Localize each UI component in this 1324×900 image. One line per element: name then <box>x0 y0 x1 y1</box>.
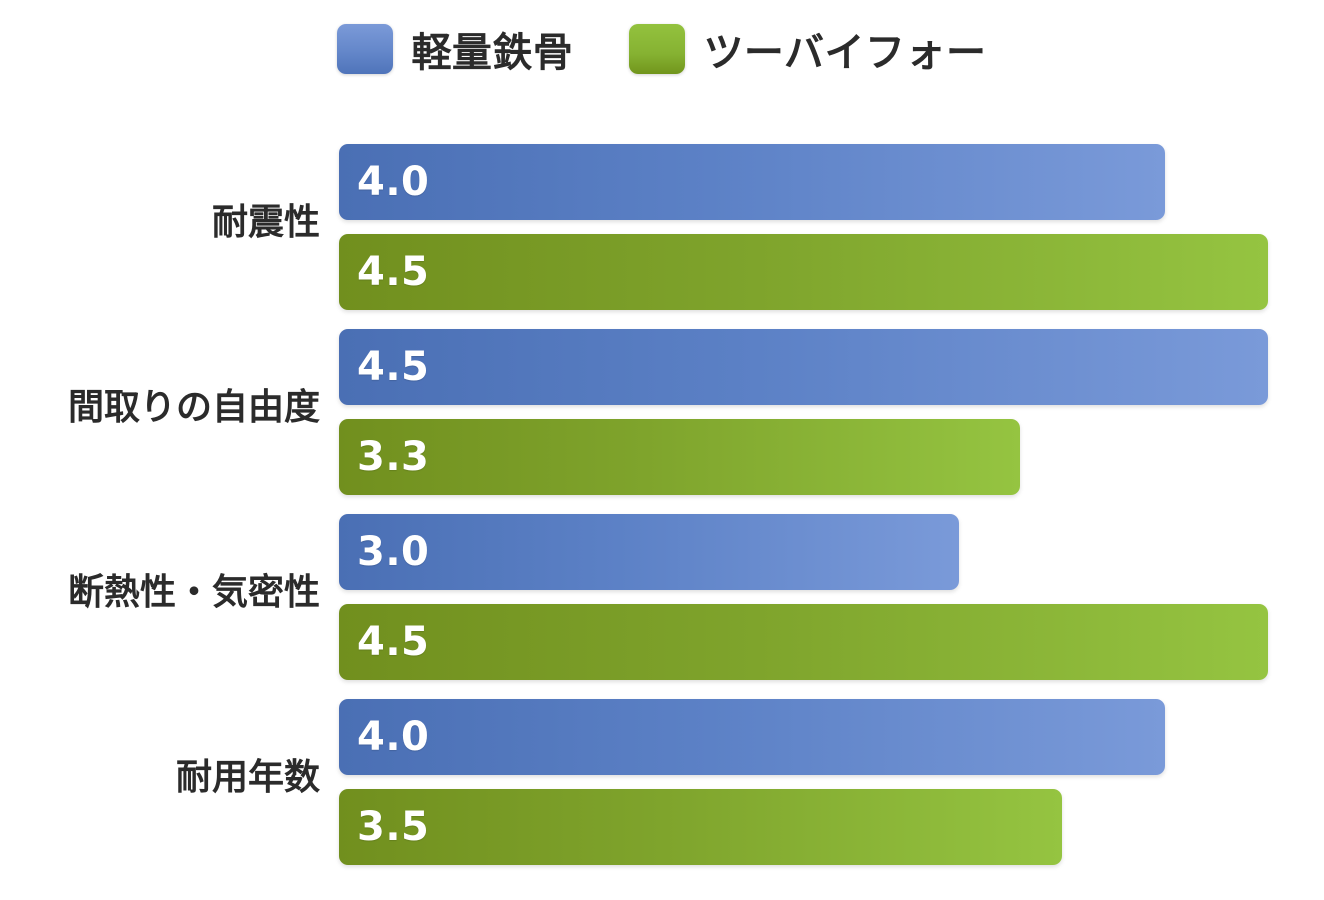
bar-series-2: 3.3 <box>339 419 1020 495</box>
bar-series-1: 4.0 <box>339 699 1165 775</box>
bar-row: 3.5 <box>339 789 1062 865</box>
category-label: 耐用年数 <box>0 760 320 796</box>
legend-item-series-2: ツーバイフォー <box>629 20 986 78</box>
plot-area: 耐震性 4.0 4.5 間取りの自由度 4.5 3.3 <box>0 130 1324 890</box>
bar-value-label: 4.5 <box>357 622 429 662</box>
bar-value-label: 4.0 <box>357 162 429 202</box>
bar-value-label: 3.3 <box>357 437 429 477</box>
bar-group: 断熱性・気密性 3.0 4.5 <box>0 500 1324 685</box>
bar-value-label: 3.5 <box>357 807 429 847</box>
bar-value-label: 4.5 <box>357 347 429 387</box>
bar-row: 4.0 <box>339 144 1165 220</box>
bar-row: 4.5 <box>339 234 1268 310</box>
bar-series-2: 4.5 <box>339 604 1268 680</box>
category-label: 耐震性 <box>0 205 320 241</box>
bar-row: 4.0 <box>339 699 1165 775</box>
bar-series-2: 4.5 <box>339 234 1268 310</box>
category-label: 断熱性・気密性 <box>0 575 320 611</box>
bar-series-2: 3.5 <box>339 789 1062 865</box>
bar-row: 3.0 <box>339 514 959 590</box>
bar-series-1: 3.0 <box>339 514 959 590</box>
bar-value-label: 3.0 <box>357 532 429 572</box>
bar-group: 耐用年数 4.0 3.5 <box>0 685 1324 870</box>
bar-group: 間取りの自由度 4.5 3.3 <box>0 315 1324 500</box>
legend-item-series-1: 軽量鉄骨 <box>337 20 573 78</box>
category-label: 間取りの自由度 <box>0 390 320 426</box>
chart-legend: 軽量鉄骨 ツーバイフォー <box>0 14 1324 84</box>
bar-series-1: 4.5 <box>339 329 1268 405</box>
bar-value-label: 4.5 <box>357 252 429 292</box>
bar-group: 耐震性 4.0 4.5 <box>0 130 1324 315</box>
bar-row: 4.5 <box>339 604 1268 680</box>
grouped-bar-chart: 軽量鉄骨 ツーバイフォー 耐震性 4.0 4.5 間取りの自由度 <box>0 0 1324 900</box>
legend-swatch-icon-series-1 <box>337 24 393 74</box>
legend-label-series-1: 軽量鉄骨 <box>411 20 573 78</box>
bar-value-label: 4.0 <box>357 717 429 757</box>
legend-swatch-icon-series-2 <box>629 24 685 74</box>
bar-series-1: 4.0 <box>339 144 1165 220</box>
bar-row: 4.5 <box>339 329 1268 405</box>
bar-row: 3.3 <box>339 419 1020 495</box>
legend-label-series-2: ツーバイフォー <box>703 20 986 78</box>
